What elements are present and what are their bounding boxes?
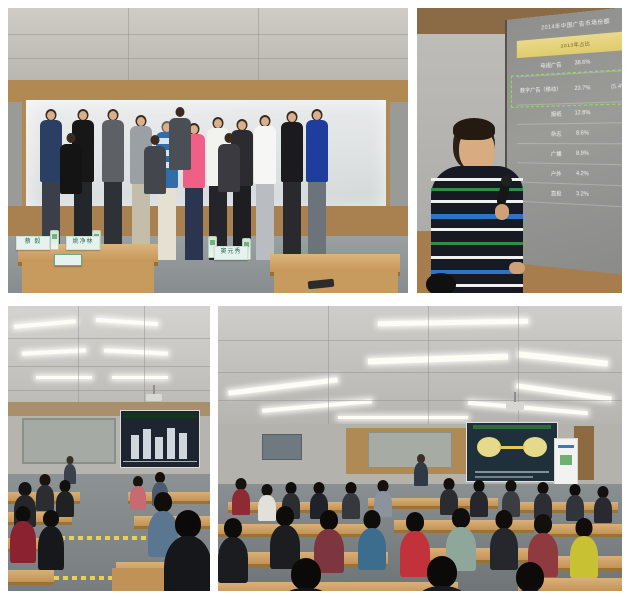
nameplate-2: 姚净林 [66,236,100,250]
slide-row-value: 3.2% [566,191,600,199]
slide-row: 直投 3.2% [517,182,622,208]
slide-row-label: 报纸 [517,110,566,118]
desk-row [8,570,54,585]
front-table-left-front [22,262,154,293]
slide-row-extra [599,195,622,197]
slide-row-label: 杂志 [517,130,566,138]
audience-silhouette [270,506,300,564]
audience-silhouette [534,482,552,516]
slide-row-value: 4.2% [566,171,600,178]
person [218,133,240,259]
slide-row-label: 广播 [517,150,566,158]
slide-row-extra [599,112,622,113]
slide-row: 杂志 8.6% [517,123,622,144]
nameplate-flat [54,254,82,266]
audience-silhouette [282,558,330,591]
presenter-silhouette [414,454,428,486]
audience-silhouette [232,478,250,512]
window [262,434,302,460]
slide-table: 2013年占比 电视广告 38.6% 数字广告（移动） 23.7% (5.4%)… [517,30,622,208]
audience-silhouette [10,506,36,558]
front-table-right-front [274,272,398,293]
slide-row-value: 8.9% [566,150,600,157]
audience-silhouette [570,518,598,574]
slide-row: 广播 8.9% [517,144,622,166]
audience-silhouette [374,480,392,514]
audience-silhouette [38,510,64,566]
audience-silhouette [508,562,552,591]
person [304,109,330,259]
person [168,107,192,259]
nameplate-3: 窦元秀 [214,246,248,260]
speaker-hand [495,204,509,220]
ceiling [8,8,408,80]
ceiling-projector [146,394,162,401]
slide-highlight-box [511,68,622,108]
person [144,135,166,259]
slide-row-label: 户外 [517,169,566,178]
slide-row-value: 8.6% [566,130,600,137]
projector-screen [466,422,558,482]
audience-silhouette [164,510,210,591]
person [252,115,278,259]
photo-collage: 蔡 毅 姚净林 窦元秀 2014年中国广告市场份额 2013年占比 电视广告 3… [0,0,630,600]
audience-silhouette [56,480,74,514]
slide-header-band [123,413,197,418]
speaker-hand [509,262,525,274]
nameplate-1: 蔡 毅 [16,236,50,250]
person [100,109,126,259]
audience-silhouette [218,518,248,578]
slide-row-extra [599,59,622,62]
slide-row-extra [599,175,622,176]
slide-title: 2014年中国广告市场份额 [541,17,610,31]
ceiling [218,306,622,424]
audience-silhouette [130,476,146,508]
audience-silhouette [566,484,584,518]
slide-row-label: 直投 [517,188,566,197]
audience-silhouette [594,486,612,520]
speaker-hair [453,118,495,140]
slide-row-value: 12.8% [566,110,600,117]
ceiling-projector [506,402,524,410]
audience-silhouette [417,273,465,293]
person [280,111,304,259]
projector-screen [120,410,200,468]
floor-tape [60,536,146,540]
greenboard [368,432,452,468]
audience-silhouette [502,480,520,514]
slide-row-label: 电视广告 [517,60,566,70]
audience-silhouette [358,510,386,566]
lecture-hall-photo-bottom-left[interactable] [8,306,210,591]
presenter-silhouette [64,456,76,482]
audience-silhouette [418,556,466,591]
classroom-photo-bottom-right[interactable] [218,306,622,591]
ceiling [8,306,210,402]
audience-silhouette [440,478,458,512]
audience-silhouette [36,474,54,508]
water-bottle [50,230,59,250]
audience-silhouette [490,510,518,566]
slide-row-value: 38.6% [566,59,600,68]
group-photo-top-left[interactable]: 蔡 毅 姚净林 窦元秀 [8,8,408,293]
speaker-photo-top-right[interactable]: 2014年中国广告市场份额 2013年占比 电视广告 38.6% 数字广告（移动… [417,8,622,293]
